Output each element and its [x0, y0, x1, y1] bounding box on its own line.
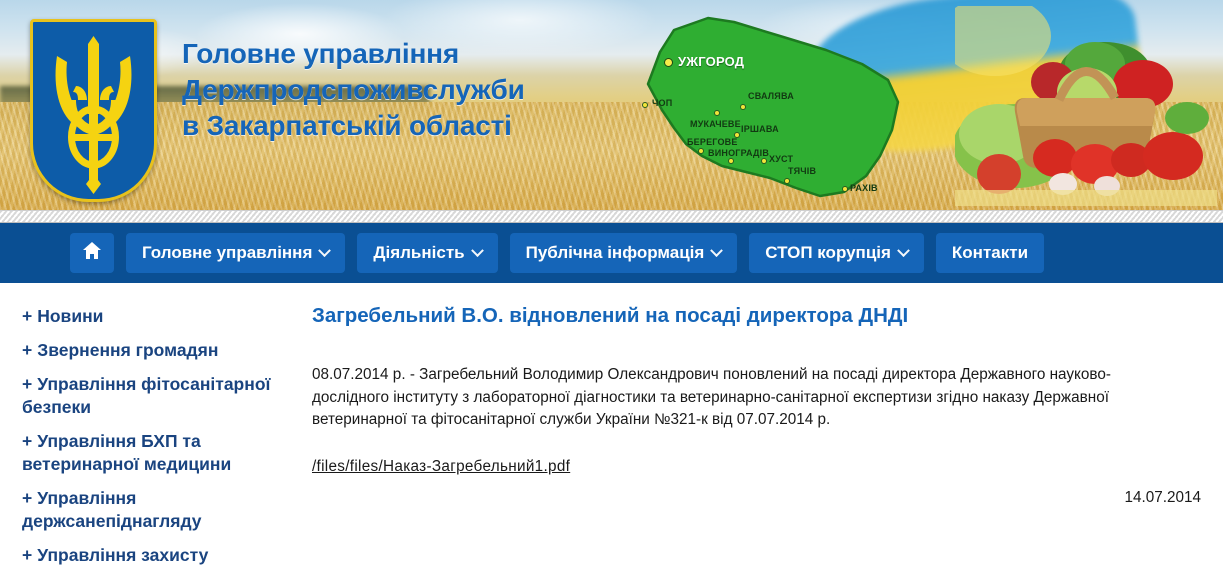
- article-body-text: 08.07.2014 р. - Загребельний Володимир О…: [312, 364, 1170, 432]
- map-city-dot-tiachiv: [784, 178, 790, 184]
- nav-item-label: Контакти: [952, 243, 1028, 263]
- main-navigation-bar: Головне управління Діяльність Публічна і…: [0, 223, 1223, 283]
- map-city-dot-svaliava: [740, 104, 746, 110]
- home-icon: [82, 241, 102, 265]
- sidebar-menu: +Новини +Звернення громадян +Управління …: [0, 283, 300, 578]
- nav-item-kontakty[interactable]: Контакти: [936, 233, 1044, 273]
- sidebar-item-label: Управління захисту: [37, 545, 208, 565]
- map-city-dot-mukacheve: [714, 110, 720, 116]
- sidebar-item-bhp-veterynarnoi-medytsyny[interactable]: +Управління БХП та ветеринарної медицини: [22, 430, 284, 476]
- map-city-label-svaliava: СВАЛЯВА: [748, 91, 794, 101]
- nav-item-holovne-upravlinnia[interactable]: Головне управління: [126, 233, 345, 273]
- nav-item-diialnist[interactable]: Діяльність: [357, 233, 497, 273]
- map-city-label-rakhiv: РАХІВ: [850, 183, 878, 193]
- vegetable-basket-photo: [955, 6, 1217, 206]
- map-city-label-mukacheve: МУКАЧЕВЕ: [690, 119, 741, 129]
- map-city-dot-capital: [664, 58, 673, 67]
- sidebar-item-fitosanitarnoi-bezpeky[interactable]: +Управління фітосанітарної безпеки: [22, 373, 284, 419]
- map-city-label-khust: ХУСТ: [769, 154, 793, 164]
- map-city-label-capital: УЖГОРОД: [678, 54, 744, 69]
- map-city-label-chop: ЧОП: [652, 98, 672, 108]
- map-city-dot-chop: [642, 102, 648, 108]
- chevron-down-icon: [897, 244, 910, 257]
- sidebar-item-zvernennia-hromadian[interactable]: +Звернення громадян: [22, 339, 284, 362]
- chevron-down-icon: [319, 244, 332, 257]
- nav-item-label: Діяльність: [373, 243, 464, 263]
- nav-home-button[interactable]: [70, 233, 114, 273]
- sidebar-item-upravlinnia-zakhystu[interactable]: +Управління захисту: [22, 544, 284, 567]
- article-date: 14.07.2014: [1124, 489, 1201, 507]
- nav-item-stop-koruptsiia[interactable]: СТОП корупція: [749, 233, 924, 273]
- chevron-down-icon: [710, 244, 723, 257]
- map-city-dot-berehove: [698, 148, 704, 154]
- page-body: +Новини +Звернення громадян +Управління …: [0, 283, 1223, 544]
- expand-plus-icon: +: [22, 340, 32, 360]
- map-city-dot-vynohradiv: [728, 158, 734, 164]
- sidebar-item-label: Управління фітосанітарної безпеки: [22, 374, 270, 417]
- expand-plus-icon: +: [22, 488, 32, 508]
- sidebar-item-derzhsanepidnahliadu[interactable]: +Управління держсанепіднагляду: [22, 487, 284, 533]
- map-city-dot-rakhiv: [842, 186, 848, 192]
- expand-plus-icon: +: [22, 431, 32, 451]
- nav-item-publichna-informatsiia[interactable]: Публічна інформація: [510, 233, 738, 273]
- zakarpattia-region-map: УЖГОРОД ЧОП СВАЛЯВА МУКАЧЕВЕ ІРШАВА БЕРЕ…: [630, 6, 940, 206]
- banner-title: Головне управління Держпродспоживслужби …: [182, 36, 632, 144]
- banner-title-line-1: Головне управління: [182, 36, 632, 72]
- expand-plus-icon: +: [22, 306, 32, 326]
- expand-plus-icon: +: [22, 374, 32, 394]
- map-city-label-tiachiv: ТЯЧІВ: [788, 166, 816, 176]
- header-nav-divider: [0, 210, 1223, 223]
- banner-title-line-3: в Закарпатській області: [182, 108, 632, 144]
- sidebar-item-label: Управління держсанепіднагляду: [22, 488, 202, 531]
- sidebar-item-label: Управління БХП та ветеринарної медицини: [22, 431, 231, 474]
- chevron-down-icon: [471, 244, 484, 257]
- ukraine-coat-of-arms-icon: [30, 19, 157, 202]
- map-city-label-irshava: ІРШАВА: [741, 124, 779, 134]
- article-content: Загребельний В.О. відновлений на посаді …: [312, 283, 1212, 476]
- nav-item-label: СТОП корупція: [765, 243, 891, 263]
- attachment-pdf-link[interactable]: /files/files/Наказ-Загребельний1.pdf: [312, 458, 570, 476]
- site-header-banner: Головне управління Держпродспоживслужби …: [0, 0, 1223, 210]
- map-city-dot-khust: [761, 158, 767, 164]
- map-city-label-berehove: БЕРЕГОВЕ: [687, 137, 738, 147]
- banner-title-line-2: Держпродспоживслужби: [182, 72, 632, 108]
- sidebar-item-label: Новини: [37, 306, 103, 326]
- sidebar-item-novyny[interactable]: +Новини: [22, 305, 284, 328]
- nav-item-label: Головне управління: [142, 243, 312, 263]
- map-city-label-vynohradiv: ВИНОГРАДІВ: [708, 148, 769, 158]
- sidebar-item-label: Звернення громадян: [37, 340, 218, 360]
- page-title: Загребельний В.О. відновлений на посаді …: [312, 303, 1212, 329]
- expand-plus-icon: +: [22, 545, 32, 565]
- nav-item-label: Публічна інформація: [526, 243, 705, 263]
